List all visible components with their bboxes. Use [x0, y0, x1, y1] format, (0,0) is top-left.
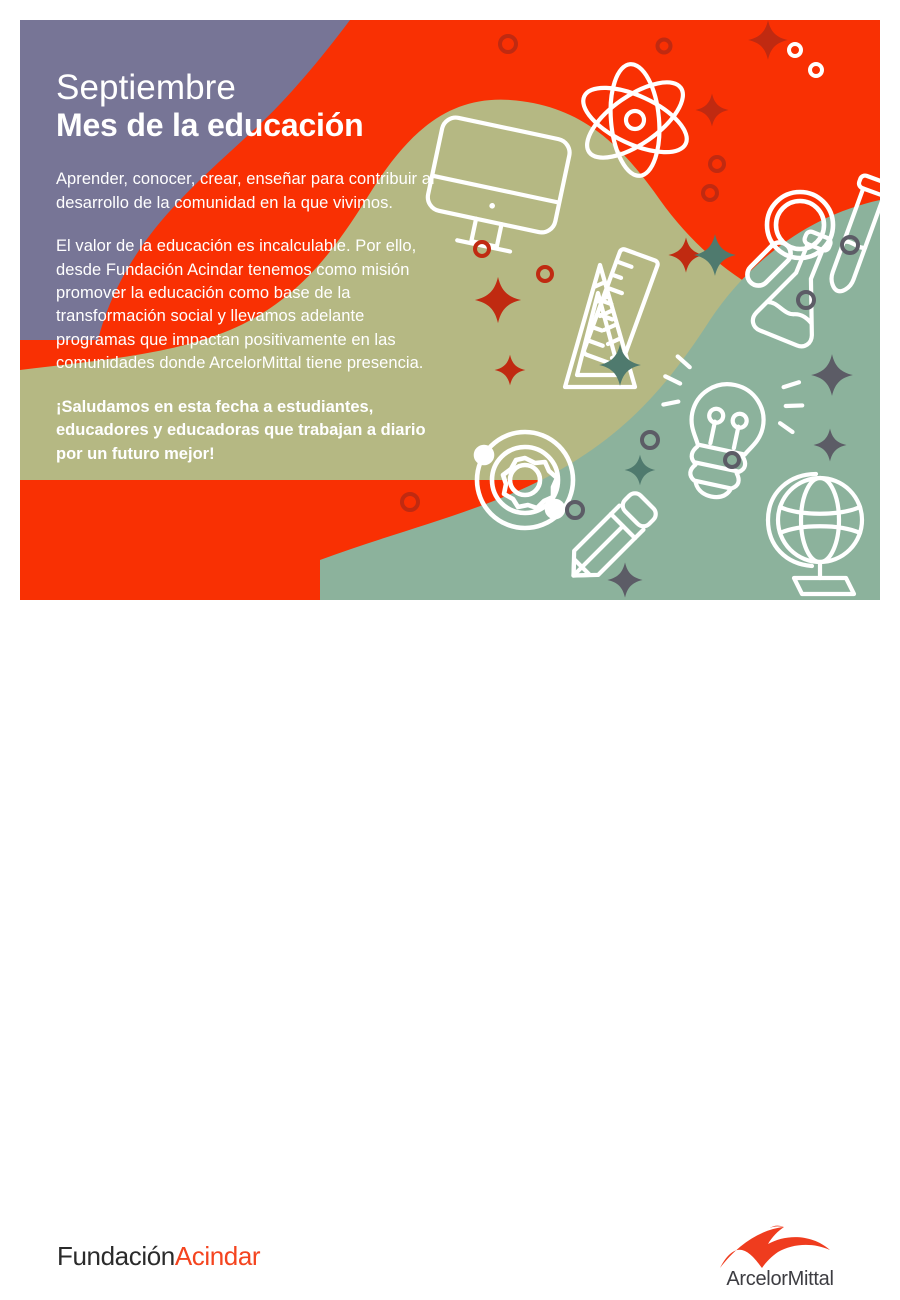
poster-month-label: Septiembre [56, 70, 436, 107]
arcelormittal-wordmark: ArcelorMittal [700, 1268, 860, 1291]
poster-text-column: Septiembre Mes de la educación Aprender,… [56, 70, 436, 466]
poster-artwork-card: Septiembre Mes de la educación Aprender,… [20, 20, 880, 600]
poster-paragraph-1: Aprender, conocer, crear, enseñar para c… [56, 168, 436, 215]
arcelormittal-logo: ArcelorMittal [700, 1220, 860, 1300]
fundacion-logo-word-fundacion: Fundación [57, 1241, 175, 1271]
poster-paragraph-2: El valor de la educación es incalculable… [56, 235, 436, 376]
poster-paragraph-3: ¡Saludamos en esta fecha a estudiantes, … [56, 396, 436, 466]
poster-headline: Mes de la educación [56, 108, 436, 143]
poster-footer: FundaciónAcindar ArcelorMittal [0, 600, 900, 720]
fundacion-logo-word-acindar: Acindar [175, 1241, 260, 1271]
fundacion-acindar-logo: FundaciónAcindar [57, 1241, 260, 1272]
poster-canvas: Septiembre Mes de la educación Aprender,… [0, 0, 900, 720]
